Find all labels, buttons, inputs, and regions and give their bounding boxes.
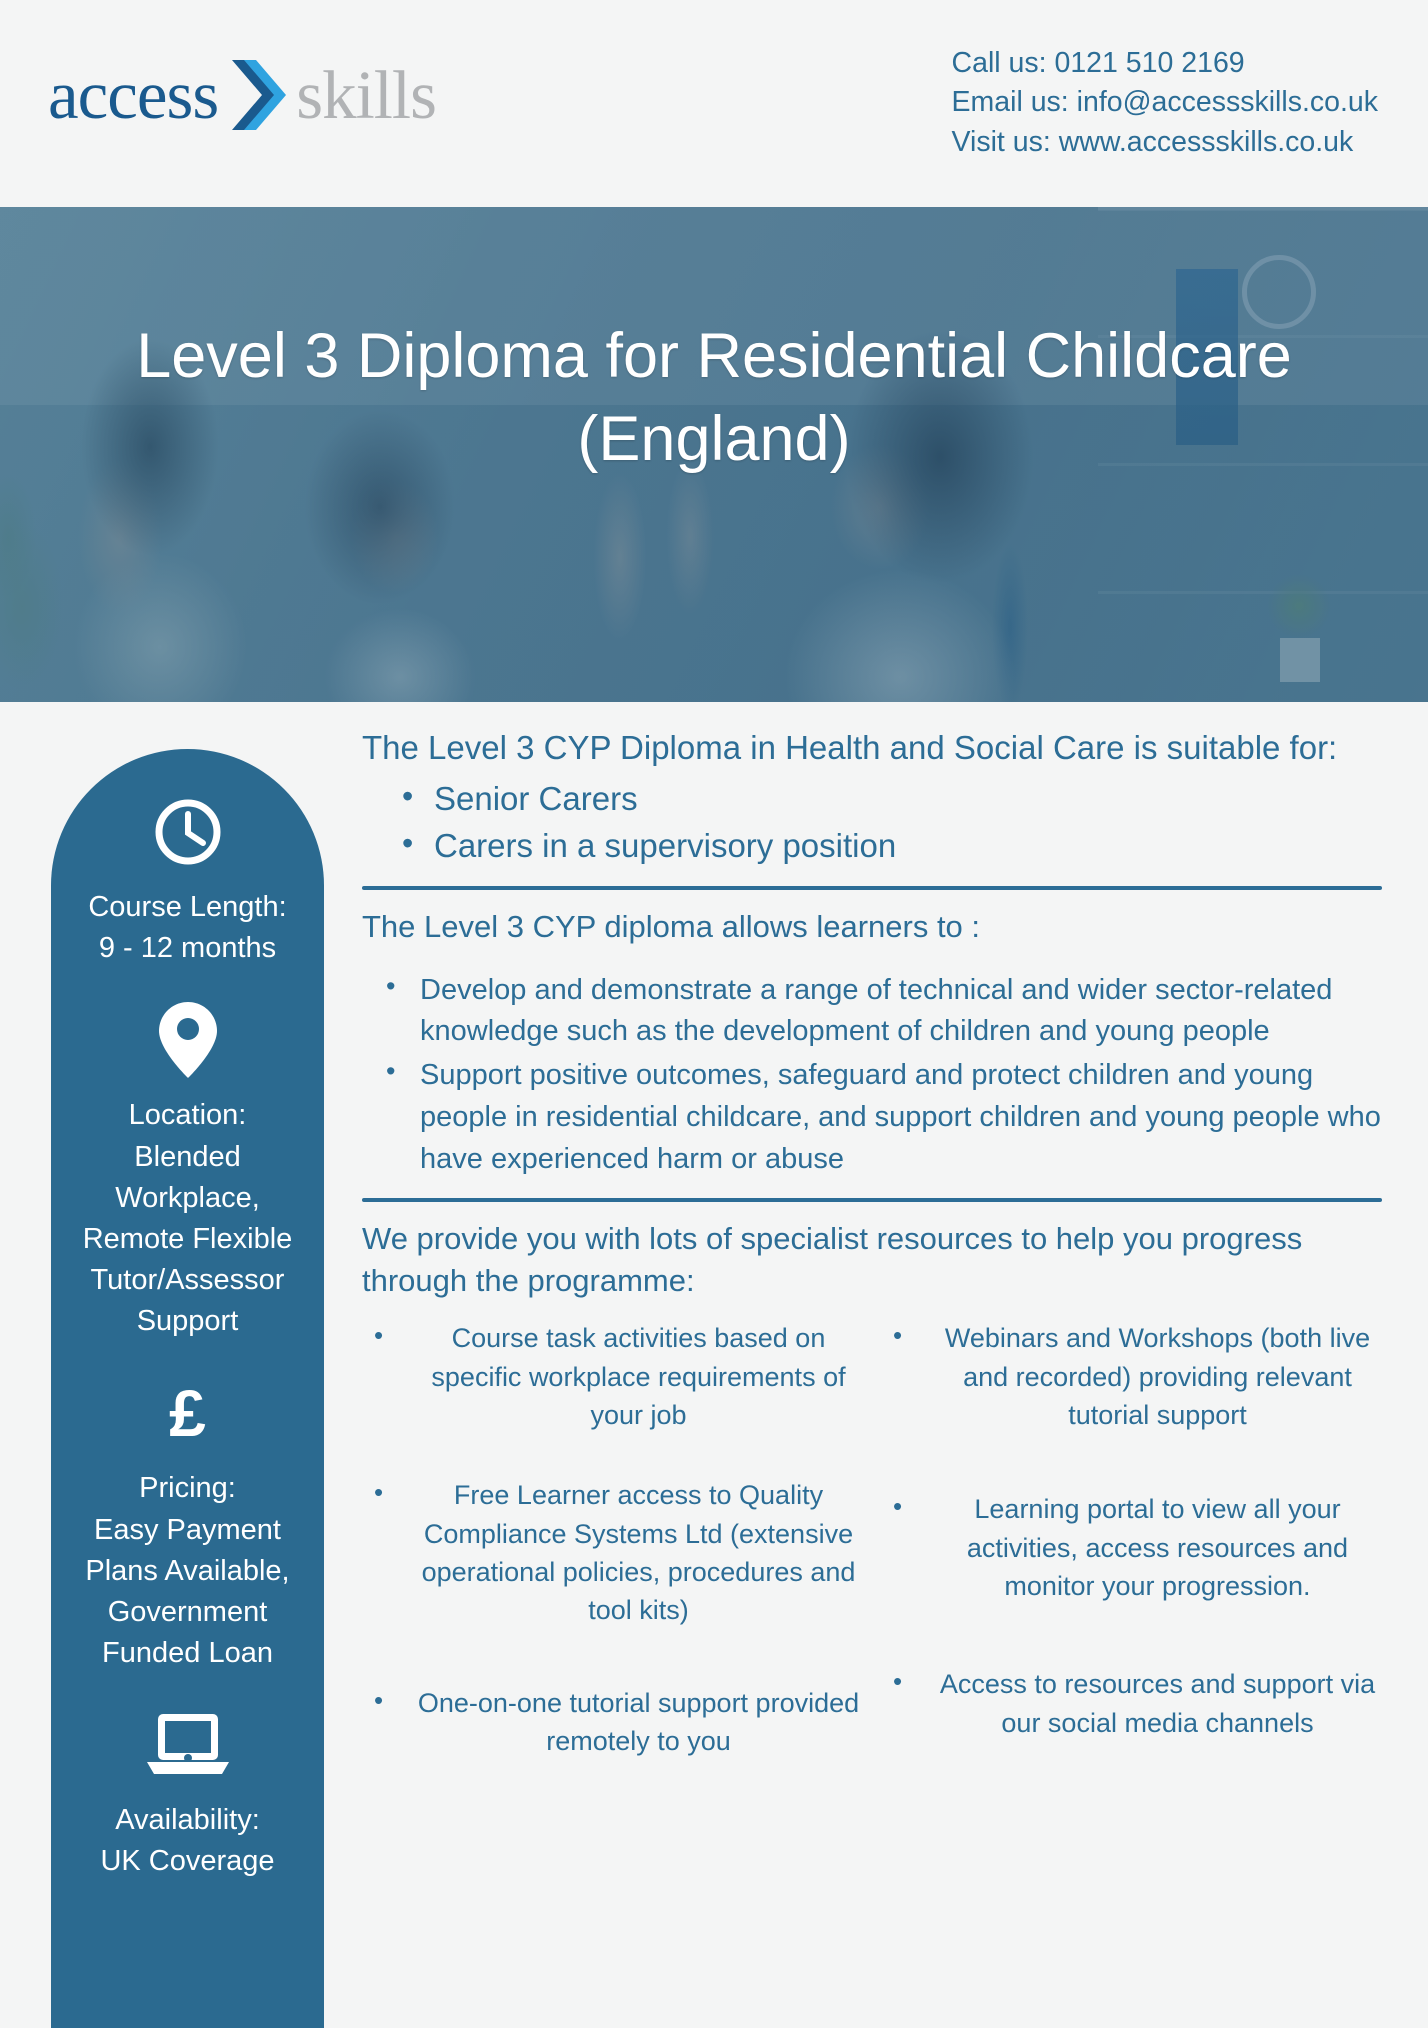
pound-sterling-icon: £ — [67, 1376, 308, 1450]
divider — [362, 1198, 1382, 1202]
list-item: Support positive outcomes, safeguard and… — [362, 1055, 1382, 1180]
list-item: Access to resources and support via our … — [881, 1665, 1382, 1742]
list-item: Develop and demonstrate a range of techn… — [362, 970, 1382, 1054]
list-item: Senior Carers — [362, 777, 1382, 821]
sidebar-pricing-value: Easy Payment Plans Available, Government… — [67, 1510, 308, 1675]
logo-word-skills: skills — [296, 61, 436, 130]
contact-phone[interactable]: Call us: 0121 510 2169 — [952, 44, 1378, 83]
list-item: Carers in a supervisory position — [362, 824, 1382, 868]
course-info-sidebar: Course Length: 9 - 12 months Location: B… — [51, 749, 324, 2028]
contact-info: Call us: 0121 510 2169 Email us: info@ac… — [952, 44, 1378, 162]
sidebar-availability-value: UK Coverage — [67, 1841, 308, 1882]
page-title: Level 3 Diploma for Residential Childcar… — [0, 315, 1428, 481]
resources-left-column: Course task activities based on specific… — [362, 1319, 863, 1760]
main-column: The Level 3 CYP Diploma in Health and So… — [362, 726, 1382, 1760]
section-suitable-for: The Level 3 CYP Diploma in Health and So… — [362, 726, 1382, 868]
resources-grid: Course task activities based on specific… — [362, 1319, 1382, 1760]
sidebar-pricing-title: Pricing: — [67, 1468, 308, 1509]
brand-logo[interactable]: access skills — [48, 52, 436, 138]
sidebar-block-location: Location: Blended Workplace, Remote Flex… — [67, 1003, 308, 1342]
location-pin-icon — [67, 1003, 308, 1077]
clock-icon — [67, 795, 308, 869]
chevron-right-icon — [228, 58, 290, 132]
allows-list: Develop and demonstrate a range of techn… — [362, 970, 1382, 1181]
sidebar-location-title: Location: — [67, 1095, 308, 1136]
suitable-list: Senior Carers Carers in a supervisory po… — [362, 777, 1382, 868]
logo-word-access: access — [48, 61, 218, 130]
laptop-icon — [67, 1708, 308, 1782]
list-item: One-on-one tutorial support provided rem… — [362, 1684, 863, 1761]
sidebar-course-length-value: 9 - 12 months — [67, 928, 308, 969]
allows-heading: The Level 3 CYP diploma allows learners … — [362, 906, 1382, 948]
list-item: Course task activities based on specific… — [362, 1319, 863, 1434]
contact-website[interactable]: Visit us: www.accessskills.co.uk — [952, 123, 1378, 162]
list-item: Learning portal to view all your activit… — [881, 1490, 1382, 1605]
hero-banner: Level 3 Diploma for Residential Childcar… — [0, 207, 1428, 702]
page-content: Course Length: 9 - 12 months Location: B… — [0, 702, 1428, 2028]
sidebar-course-length-title: Course Length: — [67, 887, 308, 928]
resources-right-column: Webinars and Workshops (both live and re… — [881, 1319, 1382, 1760]
sidebar-availability-title: Availability: — [67, 1800, 308, 1841]
suitable-heading: The Level 3 CYP Diploma in Health and So… — [362, 726, 1382, 771]
contact-email[interactable]: Email us: info@accessskills.co.uk — [952, 83, 1378, 122]
resources-heading: We provide you with lots of specialist r… — [362, 1218, 1382, 1301]
list-item: Webinars and Workshops (both live and re… — [881, 1319, 1382, 1434]
sidebar-block-availability: Availability: UK Coverage — [67, 1708, 308, 1882]
page-header: access skills Call us: 0121 510 2169 Ema… — [0, 0, 1428, 207]
list-item: Free Learner access to Quality Complianc… — [362, 1476, 863, 1629]
divider — [362, 886, 1382, 890]
section-resources: We provide you with lots of specialist r… — [362, 1218, 1382, 1760]
sidebar-block-course-length: Course Length: 9 - 12 months — [67, 795, 308, 969]
section-allows-learners: The Level 3 CYP diploma allows learners … — [362, 906, 1382, 1180]
sidebar-location-value: Blended Workplace, Remote Flexible Tutor… — [67, 1137, 308, 1343]
sidebar-block-pricing: £ Pricing: Easy Payment Plans Available,… — [67, 1376, 308, 1674]
